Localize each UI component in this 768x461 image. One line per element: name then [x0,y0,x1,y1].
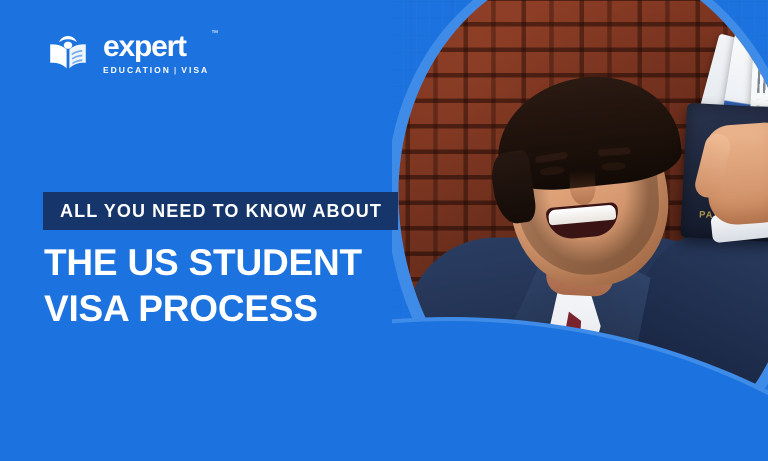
barcode-icon [757,46,768,94]
logo-wordmark: expert™ [103,32,209,62]
page-title: THE US STUDENT VISA PROCESS [44,240,404,332]
tagline-separator: | [174,65,178,75]
tagline-visa: VISA [181,65,209,75]
logo-word-text: expert [103,30,186,63]
promo-banner: PASSPORT [0,0,768,461]
headline-line-1: THE US STUDENT [44,242,362,283]
trademark-symbol: ™ [211,30,218,37]
brand-logo[interactable]: expert™ EDUCATION|VISA [44,29,209,77]
open-book-with-person-icon [44,29,92,77]
tagline-education: EDUCATION [103,65,171,75]
logo-tagline: EDUCATION|VISA [103,66,209,75]
headline-line-2: VISA PROCESS [44,286,404,332]
logo-text-block: expert™ EDUCATION|VISA [103,32,209,75]
teeth [548,204,616,225]
eyebrow-text: ALL YOU NEED TO KNOW ABOUT [43,192,398,230]
